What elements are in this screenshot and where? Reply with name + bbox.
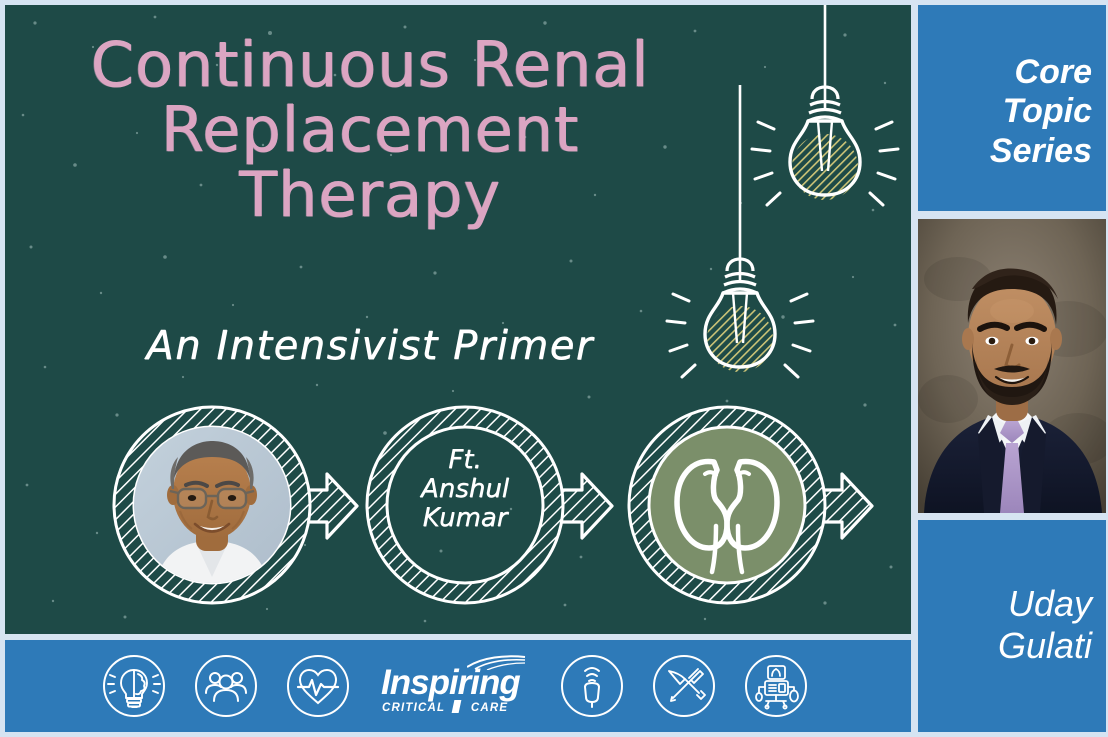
chalkboard-panel: Continuous Renal Replacement Therapy An … bbox=[5, 5, 911, 634]
series-badge-text: Core Topic Series bbox=[918, 53, 1092, 171]
series-line-3: Series bbox=[990, 132, 1092, 170]
title-line-2: Replacement bbox=[5, 98, 735, 161]
presenter-name-line-2: Gulati bbox=[998, 625, 1092, 666]
inspiring-critical-care-logo: Inspiring CRITICAL CARE bbox=[381, 653, 529, 719]
logo-tagline: CRITICAL CARE bbox=[382, 700, 508, 714]
presenter-headshot bbox=[918, 219, 1106, 513]
logo-wordmark: Inspiring bbox=[381, 663, 520, 703]
title-line-1: Continuous Renal bbox=[5, 33, 735, 96]
host-portrait-photo bbox=[134, 427, 290, 583]
slide-subtitle: An Intensivist Primer bbox=[5, 323, 735, 369]
title-line-3: Therapy bbox=[5, 163, 735, 226]
series-line-2: Topic bbox=[1003, 92, 1092, 130]
presenter-name-line-1: Uday bbox=[1008, 583, 1092, 624]
featured-speaker-line-1: Ft. bbox=[448, 445, 481, 475]
right-sidebar: Core Topic Series bbox=[916, 0, 1108, 737]
heart-ecg-icon[interactable] bbox=[285, 653, 351, 719]
slide-title: Continuous Renal Replacement Therapy bbox=[5, 33, 735, 227]
brain-lightbulb-icon[interactable] bbox=[101, 653, 167, 719]
featured-speaker-line-2: Anshul bbox=[421, 474, 509, 504]
ultrasound-probe-icon[interactable] bbox=[559, 653, 625, 719]
presenter-name-text: Uday Gulati bbox=[918, 583, 1092, 667]
node-row: Ft. Anshul Kumar bbox=[5, 400, 911, 630]
ventilator-icon[interactable] bbox=[743, 653, 809, 719]
series-badge-panel: Core Topic Series bbox=[918, 5, 1106, 211]
logo-tagline-divider bbox=[452, 700, 462, 713]
logo-tagline-right: CARE bbox=[471, 702, 508, 714]
presenter-name-panel: Uday Gulati bbox=[918, 520, 1106, 732]
featured-speaker-line-3: Kumar bbox=[423, 503, 508, 533]
logo-tagline-left: CRITICAL bbox=[382, 702, 445, 714]
people-group-icon[interactable] bbox=[193, 653, 259, 719]
footer-bar: Inspiring CRITICAL CARE bbox=[5, 640, 911, 732]
scalpel-syringe-icon[interactable] bbox=[651, 653, 717, 719]
slide-canvas: Continuous Renal Replacement Therapy An … bbox=[0, 0, 1108, 737]
series-line-1: Core bbox=[1015, 53, 1092, 91]
featured-speaker-label: Ft. Anshul Kumar bbox=[390, 446, 540, 533]
